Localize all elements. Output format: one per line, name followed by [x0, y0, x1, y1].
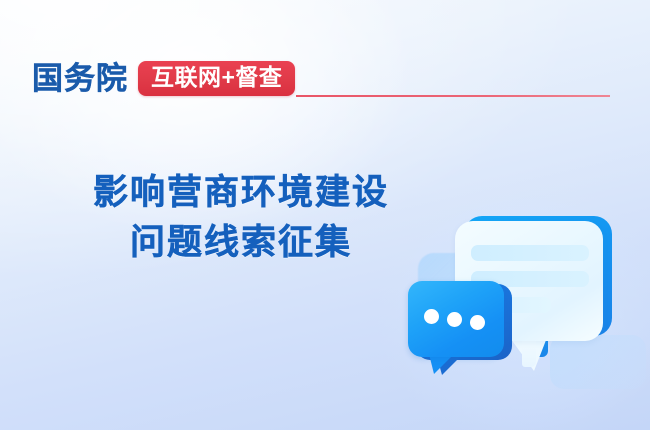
typing-dot-icon	[424, 309, 439, 324]
campaign-badge: 互联网+督查	[138, 61, 295, 96]
chat-bubbles-illustration	[400, 195, 650, 430]
promo-banner: 国务院 互联网+督查 影响营商环境建设 问题线索征集	[0, 0, 650, 430]
typing-dot-icon	[470, 315, 485, 330]
typing-dot-icon	[447, 312, 462, 327]
bubble-text-bar	[471, 245, 589, 261]
banner-header: 国务院 互联网+督查	[32, 56, 295, 100]
organization-name: 国务院	[32, 63, 128, 94]
header-divider-line	[296, 95, 610, 97]
ghost-bubble-secondary-icon	[550, 335, 646, 389]
campaign-badge-label: 互联网+督查	[151, 64, 282, 90]
